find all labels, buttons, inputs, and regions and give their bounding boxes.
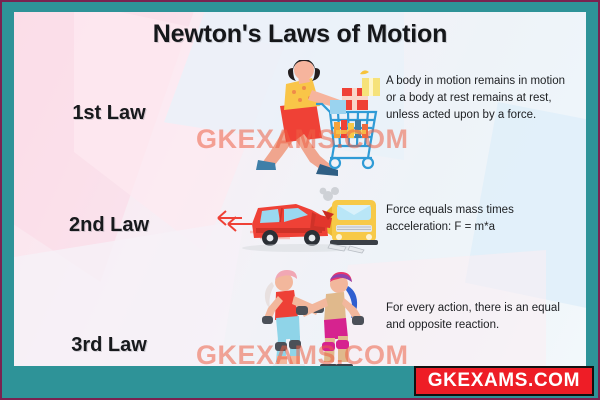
two-roller-skaters-pushing-illustration <box>242 264 378 370</box>
poster-canvas: Newton's Laws of Motion 1st Law <box>14 12 586 370</box>
site-logo[interactable]: GKEXAMS.COM <box>414 366 594 396</box>
law-description-second: Force equals mass times acceleration: F … <box>386 202 576 236</box>
law-label-first: 1st Law <box>14 102 204 125</box>
law-row-first: 1st Law <box>14 60 586 180</box>
law-description-first: A body in motion remains in motion or a … <box>386 73 576 124</box>
two-cars-collision-illustration <box>204 184 384 260</box>
law-label-second: 2nd Law <box>14 214 204 237</box>
poster-root: Newton's Laws of Motion 1st Law <box>0 0 600 400</box>
law-row-second: 2nd Law <box>14 182 586 270</box>
page-title: Newton's Laws of Motion <box>14 20 586 49</box>
law-label-third: 3rd Law <box>14 334 204 357</box>
law-row-third: 3rd Law <box>14 262 586 370</box>
law-description-third: For every action, there is an equal and … <box>386 300 578 334</box>
woman-running-with-shopping-cart-illustration <box>242 60 382 178</box>
